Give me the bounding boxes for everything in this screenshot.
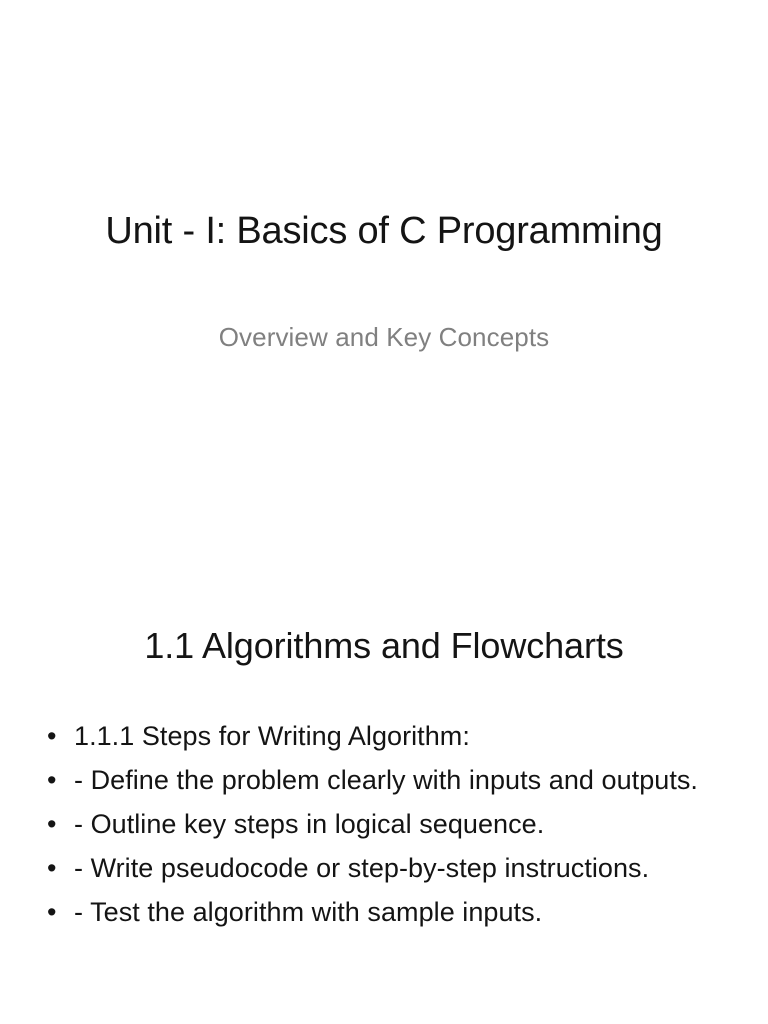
list-item-label: - Outline key steps in logical sequence. — [74, 802, 740, 846]
slide-page: Unit - I: Basics of C Programming Overvi… — [0, 0, 768, 1024]
title-block: Unit - I: Basics of C Programming Overvi… — [0, 206, 768, 354]
section-heading: 1.1 Algorithms and Flowcharts — [0, 622, 768, 670]
bullet-point-icon: • — [47, 758, 61, 802]
bullet-point-icon: • — [47, 802, 61, 846]
list-item: • - Outline key steps in logical sequenc… — [40, 802, 740, 846]
list-item: • - Test the algorithm with sample input… — [40, 890, 740, 934]
list-item-label: - Define the problem clearly with inputs… — [74, 758, 740, 802]
list-item: • - Write pseudocode or step-by-step ins… — [40, 846, 740, 890]
bullet-point-icon: • — [47, 890, 61, 934]
list-item-label: 1.1.1 Steps for Writing Algorithm: — [74, 714, 740, 758]
list-item: • - Define the problem clearly with inpu… — [40, 758, 740, 802]
bullet-point-icon: • — [47, 714, 61, 758]
page-subtitle: Overview and Key Concepts — [0, 256, 768, 354]
list-item-label: - Test the algorithm with sample inputs. — [74, 890, 740, 934]
section-block: 1.1 Algorithms and Flowcharts — [0, 622, 768, 670]
bullet-list: • 1.1.1 Steps for Writing Algorithm: • -… — [40, 714, 740, 934]
list-item: • 1.1.1 Steps for Writing Algorithm: — [40, 714, 740, 758]
bullet-point-icon: • — [47, 846, 61, 890]
list-item-label: - Write pseudocode or step-by-step instr… — [74, 846, 740, 890]
page-title: Unit - I: Basics of C Programming — [0, 206, 768, 256]
